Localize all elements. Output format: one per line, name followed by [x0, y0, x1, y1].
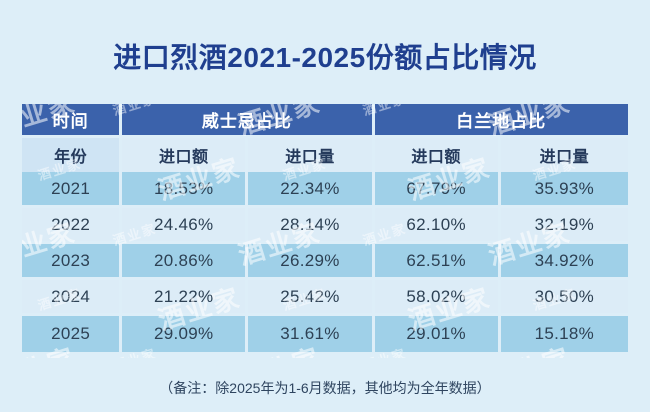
table-sub-header-row: 年份 进口额 进口量 进口额 进口量 — [22, 138, 628, 172]
cell-brandy-volume: 15.18% — [501, 316, 628, 352]
cell-year: 2022 — [22, 208, 122, 244]
table-group-header-row: 时间 威士忌占比 白兰地占比 — [22, 104, 628, 138]
cell-whisky-volume: 22.34% — [248, 172, 374, 208]
cell-brandy-volume: 34.92% — [501, 244, 628, 280]
sub-header-whisky-value: 进口额 — [122, 138, 248, 172]
table-row: 2025 29.09% 31.61% 29.01% 15.18% — [22, 316, 628, 352]
cell-whisky-value: 18.53% — [122, 172, 248, 208]
cell-brandy-value: 29.01% — [375, 316, 501, 352]
sub-header-whisky-volume: 进口量 — [248, 138, 374, 172]
cell-whisky-value: 24.46% — [122, 208, 248, 244]
cell-whisky-value: 21.22% — [122, 280, 248, 316]
sub-header-brandy-volume: 进口量 — [501, 138, 628, 172]
cell-brandy-volume: 35.93% — [501, 172, 628, 208]
table-row: 2024 21.22% 25.42% 58.02% 30.50% — [22, 280, 628, 316]
group-header-time: 时间 — [22, 104, 122, 138]
cell-year: 2025 — [22, 316, 122, 352]
cell-year: 2021 — [22, 172, 122, 208]
table-row: 2022 24.46% 28.14% 62.10% 32.19% — [22, 208, 628, 244]
cell-whisky-volume: 25.42% — [248, 280, 374, 316]
cell-whisky-volume: 26.29% — [248, 244, 374, 280]
cell-brandy-value: 58.02% — [375, 280, 501, 316]
page-title: 进口烈酒2021-2025份额占比情况 — [0, 36, 650, 76]
cell-brandy-volume: 30.50% — [501, 280, 628, 316]
cell-brandy-volume: 32.19% — [501, 208, 628, 244]
group-header-brandy: 白兰地占比 — [375, 104, 628, 138]
sub-header-brandy-value: 进口额 — [375, 138, 501, 172]
sub-header-year: 年份 — [22, 138, 122, 172]
share-table: 时间 威士忌占比 白兰地占比 年份 进口额 进口量 进口额 进口量 2021 1… — [22, 104, 628, 352]
table-row: 2023 20.86% 26.29% 62.51% 34.92% — [22, 244, 628, 280]
cell-brandy-value: 62.10% — [375, 208, 501, 244]
footnote: （备注：除2025年为1-6月数据，其他均为全年数据） — [0, 378, 650, 398]
cell-whisky-value: 20.86% — [122, 244, 248, 280]
cell-year: 2023 — [22, 244, 122, 280]
cell-year: 2024 — [22, 280, 122, 316]
cell-brandy-value: 67.79% — [375, 172, 501, 208]
cell-whisky-value: 29.09% — [122, 316, 248, 352]
share-table-container: 时间 威士忌占比 白兰地占比 年份 进口额 进口量 进口额 进口量 2021 1… — [22, 104, 628, 358]
infographic-page: 进口烈酒2021-2025份额占比情况 时间 威士忌占比 白兰地占比 年份 进口… — [0, 0, 650, 412]
table-row: 2021 18.53% 22.34% 67.79% 35.93% — [22, 172, 628, 208]
cell-whisky-volume: 31.61% — [248, 316, 374, 352]
cell-brandy-value: 62.51% — [375, 244, 501, 280]
group-header-whisky: 威士忌占比 — [122, 104, 374, 138]
cell-whisky-volume: 28.14% — [248, 208, 374, 244]
